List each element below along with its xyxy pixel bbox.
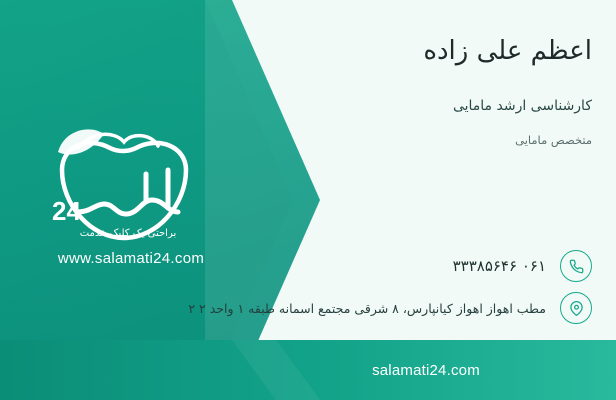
business-card: 24 براحتی یک کلیک خدمت www.salamati24.co… [0, 0, 616, 400]
logo-tagline: براحتی یک کلیک خدمت [80, 228, 177, 239]
location-pin-icon [560, 292, 592, 324]
address-text: مطب اهواز اهواز کیانپارس، ۸ شرقی مجتمع ا… [188, 301, 546, 316]
phone-number: ۰۶۱ ۳۳۳۸۵۶۴۶ [453, 257, 546, 275]
footer-website: salamati24.com [236, 340, 616, 400]
logo-website: www.salamati24.com [26, 250, 236, 267]
person-name: اعظم علی زاده [423, 36, 592, 66]
phone-icon [560, 250, 592, 282]
specialty: متخصص مامایی [515, 133, 592, 147]
contact-phone-row: ۰۶۱ ۳۳۳۸۵۶۴۶ [453, 250, 592, 282]
contact-address-row: مطب اهواز اهواز کیانپارس، ۸ شرقی مجتمع ا… [188, 292, 592, 324]
logo: 24 براحتی یک کلیک خدمت www.salamati24.co… [18, 108, 238, 278]
salamati24-logo-icon: 24 براحتی یک کلیک خدمت [18, 108, 238, 258]
job-title: کارشناسی ارشد مامایی [453, 98, 592, 114]
logo-number: 24 [52, 196, 81, 226]
